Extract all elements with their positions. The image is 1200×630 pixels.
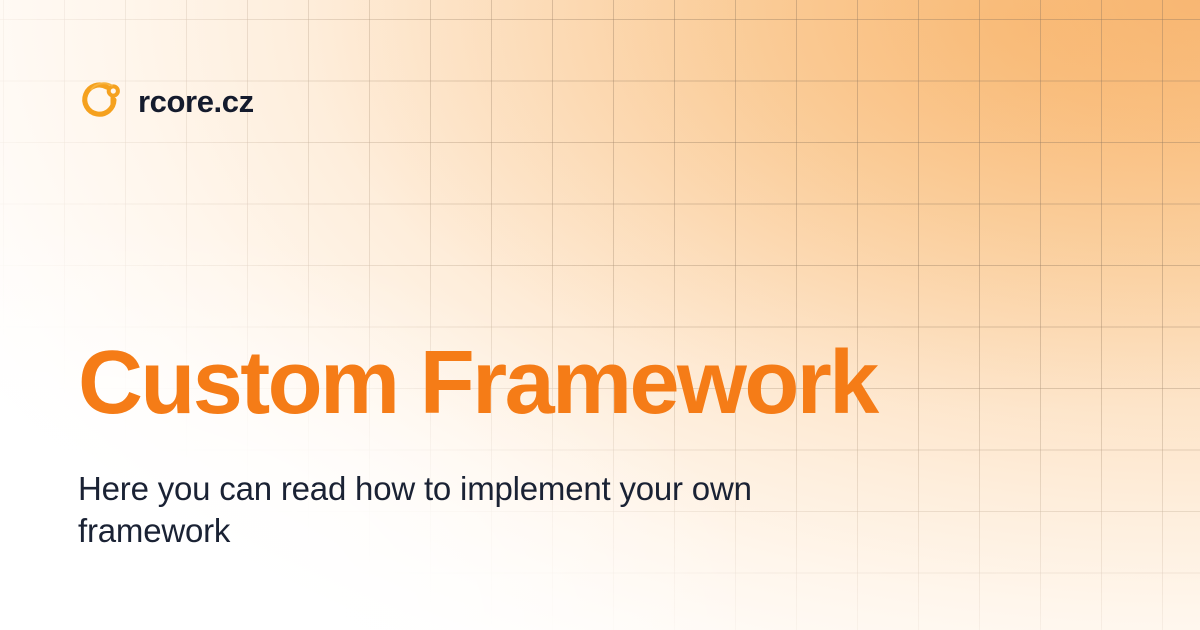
page-subtitle: Here you can read how to implement your … bbox=[78, 468, 838, 552]
og-social-card: rcore.cz Custom Framework Here you can r… bbox=[0, 0, 1200, 630]
c-degree-logo-icon bbox=[78, 78, 124, 124]
page-title: Custom Framework bbox=[78, 338, 877, 428]
brand-name-label: rcore.cz bbox=[138, 86, 254, 117]
card-content: rcore.cz Custom Framework Here you can r… bbox=[0, 0, 1200, 630]
brand-lockup[interactable]: rcore.cz bbox=[78, 78, 254, 124]
